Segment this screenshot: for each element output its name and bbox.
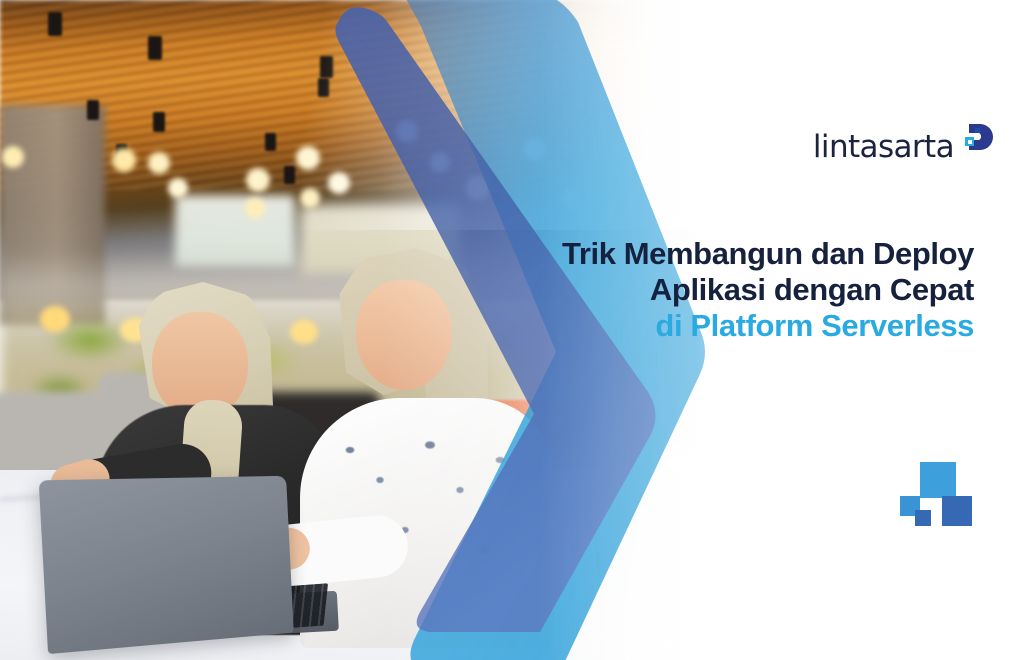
headline-line-2: Aplikasi dengan Cepat (562, 272, 974, 308)
headline: Trik Membangun dan Deploy Aplikasi denga… (562, 236, 974, 344)
lintasarta-banner: lintasarta Trik Membangun dan Deploy Apl… (0, 0, 1024, 660)
lintasarta-logo[interactable]: lintasarta (813, 132, 996, 163)
lintasarta-d-mark-icon (956, 118, 996, 158)
headline-line-3: di Platform Serverless (562, 308, 974, 344)
headline-line-1: Trik Membangun dan Deploy (562, 236, 974, 272)
logo-wordmark: lintasarta (813, 132, 954, 163)
four-square-motif-icon (898, 458, 988, 538)
